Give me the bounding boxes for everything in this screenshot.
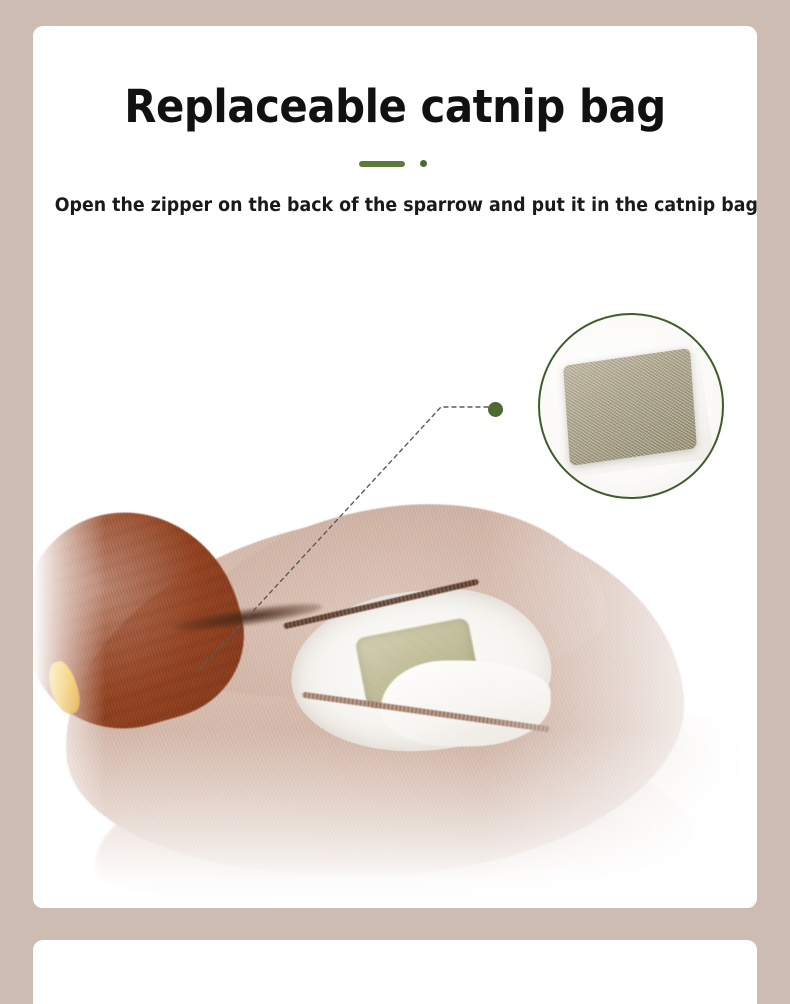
callout-marker-dot-icon bbox=[488, 402, 503, 417]
section-divider bbox=[359, 158, 431, 168]
divider-dot-icon bbox=[420, 160, 427, 167]
content-card-next bbox=[33, 940, 757, 1004]
page-title: Replaceable catnip bag bbox=[58, 82, 731, 132]
content-card-catnip-bag: Replaceable catnip bag Open the zipper o… bbox=[33, 26, 757, 908]
divider-bar bbox=[359, 161, 405, 167]
heading-block: Replaceable catnip bag Open the zipper o… bbox=[33, 26, 757, 216]
catnip-bag-closeup bbox=[563, 348, 697, 466]
callout-circle-inset bbox=[538, 313, 724, 499]
page-subtitle: Open the zipper on the back of the sparr… bbox=[55, 195, 736, 216]
